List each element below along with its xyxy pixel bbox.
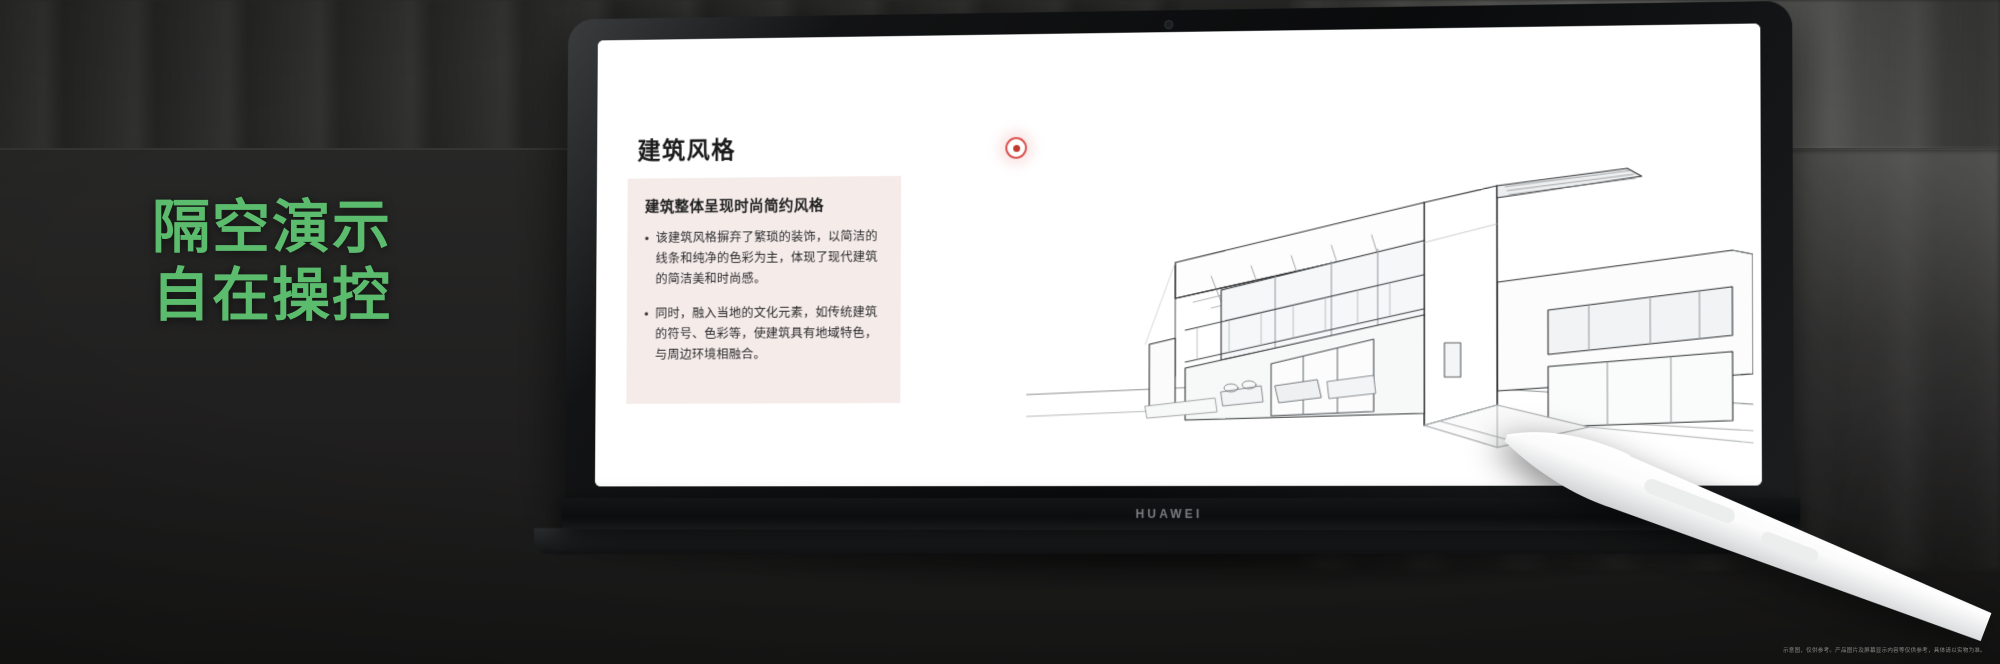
tablet-screen[interactable]: 建筑风格 建筑整体呈现时尚简约风格 • 该建筑风格摒弃了繁琐的装饰，以简洁的线条… — [595, 23, 1762, 486]
laser-pointer-dot-icon — [1005, 137, 1027, 159]
device-base — [534, 528, 1804, 554]
promo-scene: 隔空演示 自在操控 建筑风格 建筑整体呈现时尚简约风格 • 该建筑风格摒弃了繁琐… — [0, 0, 2000, 664]
presentation-slide: 建筑风格 建筑整体呈现时尚简约风格 • 该建筑风格摒弃了繁琐的装饰，以简洁的线条… — [595, 23, 1762, 486]
list-item: • 同时，融入当地的文化元素，如传统建筑的符号、色彩等，使建筑具有地域特色，与周… — [644, 302, 883, 365]
bullet-marker-icon: • — [644, 304, 649, 366]
bullet-marker-icon: • — [644, 228, 649, 290]
list-item: • 该建筑风格摒弃了繁琐的装饰，以简洁的线条和纯净的色彩为主，体现了现代建筑的简… — [644, 226, 883, 290]
bullet-text: 该建筑风格摒弃了繁琐的装饰，以简洁的线条和纯净的色彩为主，体现了现代建筑的简洁美… — [655, 226, 883, 290]
tablet-device: 建筑风格 建筑整体呈现时尚简约风格 • 该建筑风格摒弃了繁琐的装饰，以简洁的线条… — [565, 1, 1794, 510]
device-chin: HUAWEI — [561, 498, 1800, 531]
slide-title: 建筑风格 — [637, 130, 736, 165]
panel-heading: 建筑整体呈现时尚简约风格 — [645, 194, 884, 217]
headline-line-2: 自在操控 — [152, 262, 392, 330]
disclaimer-text: 示意图，仅供参考。产品图片及屏幕显示内容等仅供参考，具体请以实物为准。 — [1783, 646, 1986, 654]
modern-villa-line-sketch-icon — [1026, 70, 1753, 466]
slide-text-panel: 建筑整体呈现时尚简约风格 • 该建筑风格摒弃了繁琐的装饰，以简洁的线条和纯净的色… — [626, 176, 901, 404]
brand-logo: HUAWEI — [1136, 507, 1203, 521]
page-title: 隔空演示 自在操控 — [152, 194, 392, 331]
bullet-text: 同时，融入当地的文化元素，如传统建筑的符号、色彩等，使建筑具有地域特色，与周边环… — [655, 302, 883, 365]
headline-line-1: 隔空演示 — [152, 194, 392, 262]
